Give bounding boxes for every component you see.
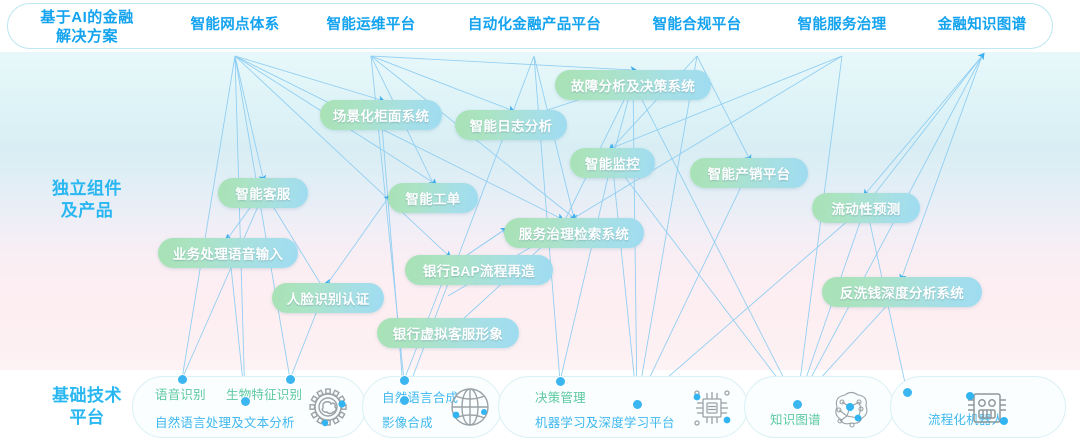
top-solution-1[interactable]: 智能网点体系 (175, 17, 295, 34)
rail-line-1: 基于AI的金融 (22, 8, 152, 27)
connector-dot-5 (400, 396, 409, 405)
rail-line-2: 解决方案 (22, 27, 152, 46)
platform-capability-6[interactable]: 决策管理 (535, 387, 586, 406)
platform-capability-5[interactable]: 影像合成 (382, 412, 433, 431)
robot-face-icon (962, 383, 1012, 438)
top-solution-3[interactable]: 自动化金融产品平台 (447, 17, 622, 34)
brain-network-icon (825, 385, 875, 440)
component-pill-14[interactable]: 银行虚拟客服形象 (377, 318, 519, 348)
rail-components: 独立组件及产品 (22, 178, 152, 222)
connector-dot-1 (178, 375, 187, 384)
connector-line (797, 56, 842, 404)
component-pill-13[interactable]: 反洗钱深度分析系统 (822, 277, 982, 307)
connector-line (235, 56, 381, 100)
connector-line (637, 170, 749, 404)
component-pill-label: 反洗钱深度分析系统 (840, 282, 964, 302)
component-pill-label: 智能工单 (405, 188, 460, 208)
connector-line (182, 195, 263, 379)
component-pill-12[interactable]: 人脸识别认证 (272, 283, 384, 313)
component-pill-9[interactable]: 服务治理检索系统 (504, 218, 644, 248)
component-pill-1[interactable]: 场景化柜面系统 (320, 100, 442, 130)
component-pill-4[interactable]: 智能监控 (570, 148, 655, 178)
connector-line (866, 56, 982, 205)
connector-line (182, 56, 235, 379)
component-pill-label: 智能客服 (235, 183, 290, 203)
connector-dot-6 (556, 377, 565, 386)
platform-capability-8[interactable]: 知识图谱 (770, 409, 821, 428)
component-pill-label: 故障分析及决策系统 (571, 75, 695, 95)
component-pill-label: 智能监控 (585, 153, 640, 173)
connector-line (235, 56, 448, 255)
top-solution-2[interactable]: 智能运维平台 (311, 17, 431, 34)
component-pill-label: 场景化柜面系统 (333, 105, 430, 125)
platform-capability-7[interactable]: 机器学习及深度学习平台 (535, 412, 675, 431)
connector-line (235, 56, 263, 178)
component-pill-6[interactable]: 智能客服 (218, 178, 308, 208)
connector-line (866, 56, 982, 193)
diagram-canvas: 基于AI的金融解决方案独立组件及产品基础技术平台 智能网点体系智能运维平台自动化… (0, 0, 1080, 443)
component-pill-label: 银行BAP流程再造 (423, 260, 535, 280)
connector-line (612, 160, 797, 404)
chip-network-icon (688, 384, 736, 437)
platform-capability-3[interactable]: 自然语言处理及文本分析 (155, 412, 295, 431)
connector-dot-9 (903, 388, 912, 397)
component-pill-label: 流动性预测 (832, 198, 901, 218)
component-pill-label: 智能日志分析 (470, 115, 553, 135)
component-pill-11[interactable]: 银行BAP流程再造 (405, 255, 553, 285)
globe-icon (447, 384, 493, 435)
connector-line (697, 56, 749, 158)
connector-line (371, 56, 633, 70)
connector-dot-7 (633, 400, 642, 409)
component-pill-5[interactable]: 智能产销平台 (690, 158, 808, 188)
component-pill-label: 服务治理检索系统 (519, 223, 629, 243)
connector-dot-2 (286, 375, 295, 384)
connector-line (328, 198, 388, 283)
component-pill-2[interactable]: 智能日志分析 (455, 110, 567, 140)
connector-line (902, 56, 982, 277)
component-pill-label: 银行虚拟客服形象 (393, 323, 503, 343)
component-pill-10[interactable]: 业务处理语音输入 (158, 238, 298, 268)
connector-dot-8 (793, 400, 802, 409)
platform-capability-2[interactable]: 生物特征识别 (226, 384, 302, 403)
top-solution-5[interactable]: 智能服务治理 (782, 17, 902, 34)
connector-dot-4 (400, 376, 409, 385)
top-solution-6[interactable]: 金融知识图谱 (922, 17, 1042, 34)
component-pill-3[interactable]: 故障分析及决策系统 (555, 70, 711, 100)
gear-brain-icon (303, 382, 353, 437)
top-solution-4[interactable]: 智能合规平台 (637, 17, 757, 34)
component-pill-label: 智能产销平台 (708, 163, 791, 183)
platform-capability-1[interactable]: 语音识别 (155, 384, 206, 403)
connector-dot-3 (241, 397, 250, 406)
connector-line (612, 160, 637, 404)
connector-line (797, 56, 982, 404)
component-pill-label: 人脸识别认证 (287, 288, 370, 308)
component-pill-8[interactable]: 流动性预测 (812, 193, 920, 223)
rail-solutions: 基于AI的金融解决方案 (22, 8, 152, 46)
rail-line-1: 独立组件 (22, 178, 152, 200)
rail-line-2: 及产品 (22, 200, 152, 222)
connector-line (633, 82, 797, 404)
component-pill-label: 业务处理语音输入 (173, 243, 283, 263)
component-pill-7[interactable]: 智能工单 (388, 183, 478, 213)
